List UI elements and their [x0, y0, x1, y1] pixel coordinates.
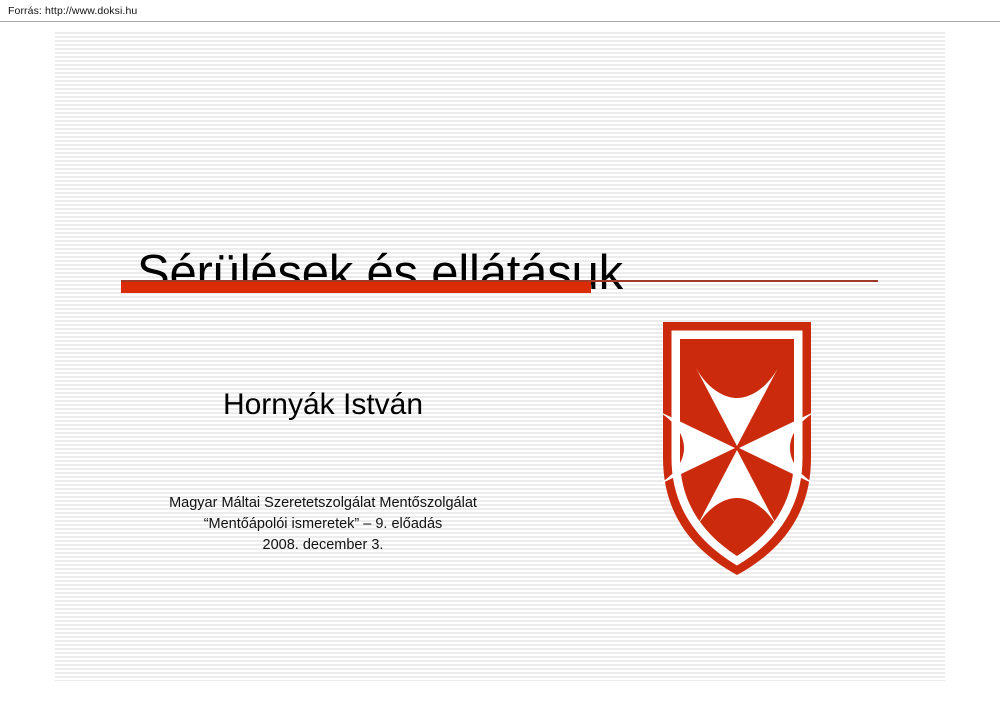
maltese-cross-shield-icon [604, 288, 870, 578]
footer-line-date: 2008. december 3. [55, 535, 591, 556]
footer-line-course: “Mentőápolói ismeretek” – 9. előadás [55, 514, 591, 535]
author-name: Hornyák István [55, 386, 591, 424]
slide-footer: Magyar Máltai Szeretetszolgálat Mentőszo… [55, 493, 591, 556]
presentation-slide: Sérülések és ellátásuk Hornyák István Ma… [55, 30, 945, 681]
slide-title: Sérülések és ellátásuk [137, 244, 623, 302]
source-url-label: Forrás: http://www.doksi.hu [8, 5, 137, 17]
source-banner: Forrás: http://www.doksi.hu [0, 0, 1000, 23]
title-accent-bar [121, 282, 591, 293]
banner-divider [0, 21, 1000, 22]
footer-line-organization: Magyar Máltai Szeretetszolgálat Mentőszo… [55, 493, 591, 514]
